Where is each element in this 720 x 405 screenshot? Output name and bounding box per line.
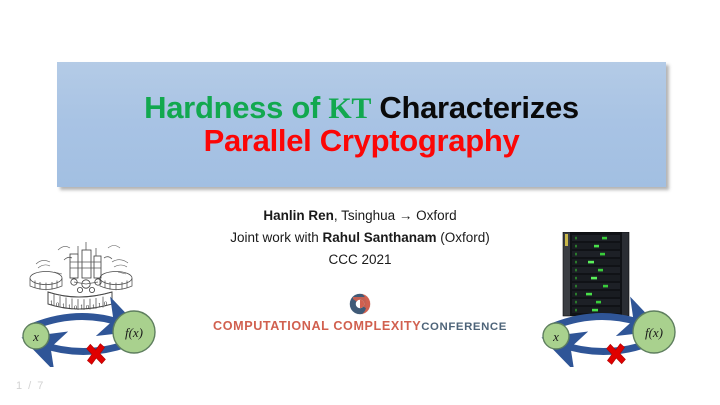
svg-text:0: 0 <box>104 300 107 307</box>
ccc-wordmark-secondary: CONFERENCE <box>421 321 507 333</box>
title-part-characterizes: Characterizes <box>371 90 579 125</box>
title-box: Hardness of KT Characterizes Parallel Cr… <box>57 62 666 187</box>
ccc-logo: COMPUTATIONAL COMPLEXITYCONFERENCE <box>205 292 515 333</box>
server-rack-photo-icon <box>563 232 629 316</box>
forward-arrow <box>34 316 124 326</box>
node-x-label: x <box>32 329 39 344</box>
forward-arrow <box>554 316 644 326</box>
subtitle-author-line: Hanlin Ren, Tsinghua → Oxford <box>0 205 720 227</box>
ccc-circular-mark-icon <box>348 292 372 316</box>
svg-text:1: 1 <box>80 304 83 311</box>
turing-machine-diagram: 1 0 1 1 0 1 0 1 1 0 <box>8 232 188 367</box>
server-rack-diagram: x f(x) <box>528 232 708 367</box>
node-fx: f(x) <box>633 311 675 353</box>
title-line-1: Hardness of KT Characterizes <box>144 92 579 124</box>
node-fx-label: f(x) <box>125 325 143 340</box>
page-number: 1 / 7 <box>16 380 45 392</box>
ccc-wordmark: COMPUTATIONAL COMPLEXITYCONFERENCE <box>205 320 515 333</box>
turing-machine-sketch-icon: 1 0 1 1 0 1 0 1 1 0 <box>30 242 132 311</box>
node-x-label: x <box>552 329 559 344</box>
title-part-hardness-of: Hardness of <box>144 90 328 125</box>
svg-text:1: 1 <box>62 303 65 310</box>
svg-text:0: 0 <box>86 304 89 311</box>
node-fx: f(x) <box>113 311 155 353</box>
svg-text:1: 1 <box>92 303 95 310</box>
title-line-2: Parallel Cryptography <box>204 125 520 157</box>
title-part-parallel-cryptography: Parallel Cryptography <box>204 123 520 158</box>
coauthor-affiliation: (Oxford) <box>437 230 490 245</box>
author-name: Hanlin Ren <box>263 208 334 223</box>
joint-work-prefix: Joint work with <box>230 230 322 245</box>
svg-text:1: 1 <box>68 304 71 311</box>
svg-text:0: 0 <box>56 301 59 308</box>
node-x: x <box>23 323 49 349</box>
ccc-wordmark-primary: COMPUTATIONAL COMPLEXITY <box>213 319 421 333</box>
title-part-kt: KT <box>328 92 371 125</box>
svg-text:1: 1 <box>50 300 53 307</box>
author-affiliation: , Tsinghua → Oxford <box>334 208 457 223</box>
slide-canvas: Hardness of KT Characterizes Parallel Cr… <box>0 0 720 405</box>
coauthor-name: Rahul Santhanam <box>322 230 436 245</box>
node-fx-label: f(x) <box>645 325 663 340</box>
svg-text:1: 1 <box>98 302 101 309</box>
node-x: x <box>543 323 569 349</box>
svg-text:0: 0 <box>74 304 77 311</box>
